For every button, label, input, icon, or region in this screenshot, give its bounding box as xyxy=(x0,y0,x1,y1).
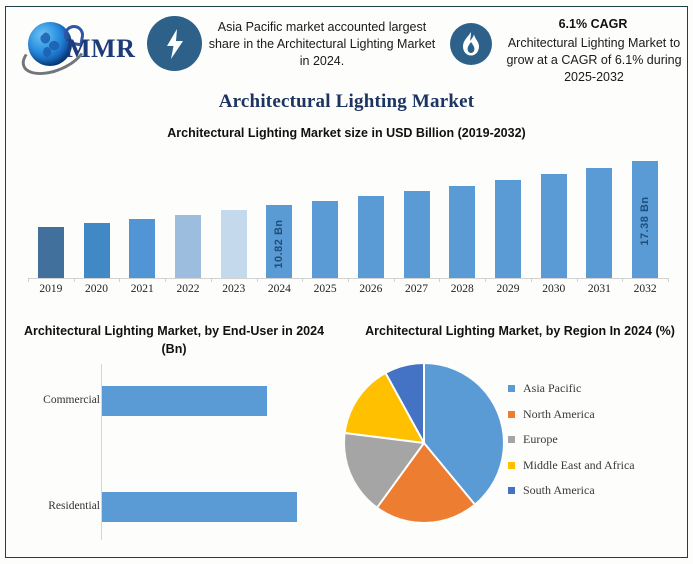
logo-text: MMR xyxy=(66,34,135,64)
axis-tick xyxy=(439,278,440,282)
bar xyxy=(84,223,110,278)
bar-column: 10.82 Bn xyxy=(257,150,303,278)
bar-column xyxy=(394,150,440,278)
axis-tick xyxy=(577,278,578,282)
axis-label: 2023 xyxy=(211,283,257,295)
legend-swatch-icon xyxy=(508,436,515,443)
legend-label: South America xyxy=(523,483,595,498)
axis-label: 2021 xyxy=(119,283,165,295)
axis-label: 2022 xyxy=(165,283,211,295)
bar-column xyxy=(577,150,623,278)
bar-column xyxy=(165,150,211,278)
legend-label: Europe xyxy=(523,432,558,447)
axis-label: 2024 xyxy=(257,283,303,295)
legend-label: North America xyxy=(523,407,595,422)
bar-value-label: 17.38 Bn xyxy=(639,197,651,246)
region-pie-chart: Architectural Lighting Market, by Region… xyxy=(340,316,690,558)
header-highlight-1: Asia Pacific market accounted largest sh… xyxy=(206,19,438,70)
bar xyxy=(129,219,155,278)
legend-swatch-icon xyxy=(508,462,515,469)
legend-item[interactable]: Asia Pacific xyxy=(508,376,688,402)
bar-column xyxy=(531,150,577,278)
pie-legend: Asia PacificNorth AmericaEuropeMiddle Ea… xyxy=(508,376,688,504)
header: MMR Asia Pacific market accounted larges… xyxy=(0,0,693,92)
axis-label: 2032 xyxy=(622,283,668,295)
flame-icon xyxy=(450,23,492,65)
pie-separators xyxy=(345,364,503,522)
bar xyxy=(312,201,338,278)
axis-tick xyxy=(348,278,349,282)
axis-label: 2027 xyxy=(394,283,440,295)
bar xyxy=(586,168,612,278)
legend-item[interactable]: Europe xyxy=(508,427,688,453)
bar-column xyxy=(119,150,165,278)
axis-label: 2025 xyxy=(302,283,348,295)
page-title: Architectural Lighting Market xyxy=(0,91,693,113)
axis-label: 2028 xyxy=(439,283,485,295)
bar-chart-title: Architectural Lighting Market size in US… xyxy=(0,126,693,140)
bar-column xyxy=(28,150,74,278)
axis-tick xyxy=(211,278,212,282)
bar-chart-plot: 10.82 Bn17.38 Bn xyxy=(28,150,668,278)
legend-swatch-icon xyxy=(508,385,515,392)
axis-tick xyxy=(622,278,623,282)
globe-landmass xyxy=(38,31,64,59)
axis-tick xyxy=(302,278,303,282)
legend-label: Middle East and Africa xyxy=(523,458,635,473)
legend-label: Asia Pacific xyxy=(523,381,581,396)
bar-column xyxy=(302,150,348,278)
axis-tick xyxy=(74,278,75,282)
bar-column xyxy=(348,150,394,278)
cagr-title: 6.1% CAGR xyxy=(500,17,686,31)
bar xyxy=(221,210,247,278)
axis-label: 2029 xyxy=(485,283,531,295)
infographic-page: MMR Asia Pacific market accounted larges… xyxy=(0,0,693,564)
bar xyxy=(404,191,430,278)
bar-column xyxy=(439,150,485,278)
axis-tick xyxy=(394,278,395,282)
bar xyxy=(495,180,521,278)
axis-tick xyxy=(257,278,258,282)
lightning-bolt-icon xyxy=(147,16,202,71)
axis-tick xyxy=(119,278,120,282)
end-user-chart-title: Architectural Lighting Market, by End-Us… xyxy=(20,322,328,358)
end-user-bar xyxy=(102,492,297,522)
legend-item[interactable]: South America xyxy=(508,478,688,504)
market-size-bar-chart: Architectural Lighting Market size in US… xyxy=(0,126,693,301)
bar xyxy=(175,215,201,278)
bar-column xyxy=(74,150,120,278)
axis-tick xyxy=(668,278,669,282)
end-user-bar-chart: Architectural Lighting Market, by End-Us… xyxy=(6,316,342,558)
bar xyxy=(449,186,475,278)
bar-column: 17.38 Bn xyxy=(622,150,668,278)
bar xyxy=(38,227,64,278)
bar: 17.38 Bn xyxy=(632,161,658,278)
bar: 10.82 Bn xyxy=(266,205,292,278)
axis-label: 2030 xyxy=(531,283,577,295)
bar-column xyxy=(211,150,257,278)
bar xyxy=(358,196,384,278)
axis-label: 2020 xyxy=(74,283,120,295)
legend-swatch-icon xyxy=(508,487,515,494)
header-highlight-2: Architectural Lighting Market to grow at… xyxy=(498,35,690,86)
end-user-category-label: Commercial xyxy=(8,394,100,406)
axis-tick xyxy=(28,278,29,282)
legend-item[interactable]: North America xyxy=(508,402,688,428)
axis-label: 2031 xyxy=(577,283,623,295)
bar xyxy=(541,174,567,278)
axis-tick xyxy=(531,278,532,282)
end-user-category-label: Residential xyxy=(8,500,100,512)
bar-column xyxy=(485,150,531,278)
end-user-plot xyxy=(102,364,320,540)
legend-swatch-icon xyxy=(508,411,515,418)
axis-tick xyxy=(485,278,486,282)
bar-value-label: 10.82 Bn xyxy=(273,219,285,268)
axis-label: 2026 xyxy=(348,283,394,295)
end-user-bar xyxy=(102,386,267,416)
legend-item[interactable]: Middle East and Africa xyxy=(508,453,688,479)
mmr-logo: MMR xyxy=(18,14,142,74)
axis-tick xyxy=(165,278,166,282)
region-chart-title: Architectural Lighting Market, by Region… xyxy=(360,322,680,340)
axis-label: 2019 xyxy=(28,283,74,295)
